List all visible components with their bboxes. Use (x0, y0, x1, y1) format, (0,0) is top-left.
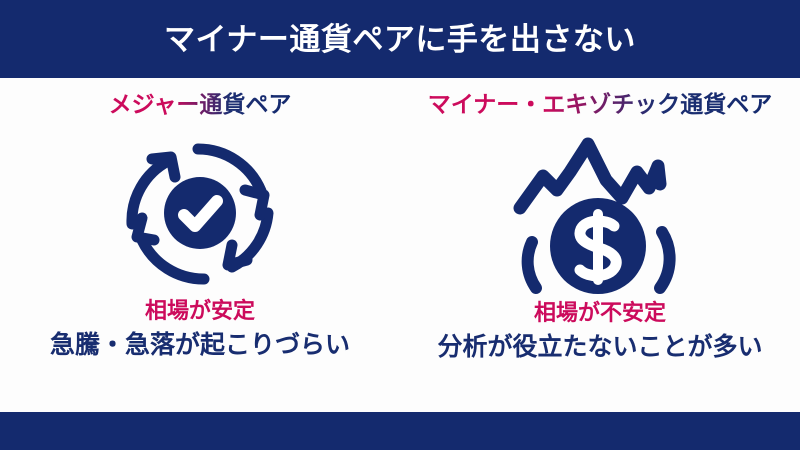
page-title: マイナー通貨ペアに手を出さない (164, 24, 636, 55)
footer-band (0, 412, 800, 450)
header-band: マイナー通貨ペアに手を出さない (0, 0, 800, 78)
caption-secondary-minor: 分析が役立たないことが多い (437, 333, 762, 362)
column-minor-pairs: マイナー・エキゾチック通貨ペア 相場が不安定 (400, 92, 800, 361)
volatile-dollar-coin-icon (510, 133, 690, 298)
slide-root: マイナー通貨ペアに手を出さない メジャー通貨ペア (0, 0, 800, 450)
caption-primary-minor: 相場が不安定 (534, 300, 666, 325)
caption-secondary-major: 急騰・急落が起こりづらい (50, 331, 350, 360)
comparison-body: メジャー通貨ペア (0, 78, 800, 412)
column-major-pairs: メジャー通貨ペア (0, 92, 400, 359)
caption-primary-major: 相場が安定 (145, 298, 255, 323)
column-heading-major: メジャー通貨ペア (109, 92, 292, 117)
cycle-arrows-check-icon (114, 127, 286, 292)
column-heading-minor: マイナー・エキゾチック通貨ペア (428, 92, 773, 117)
